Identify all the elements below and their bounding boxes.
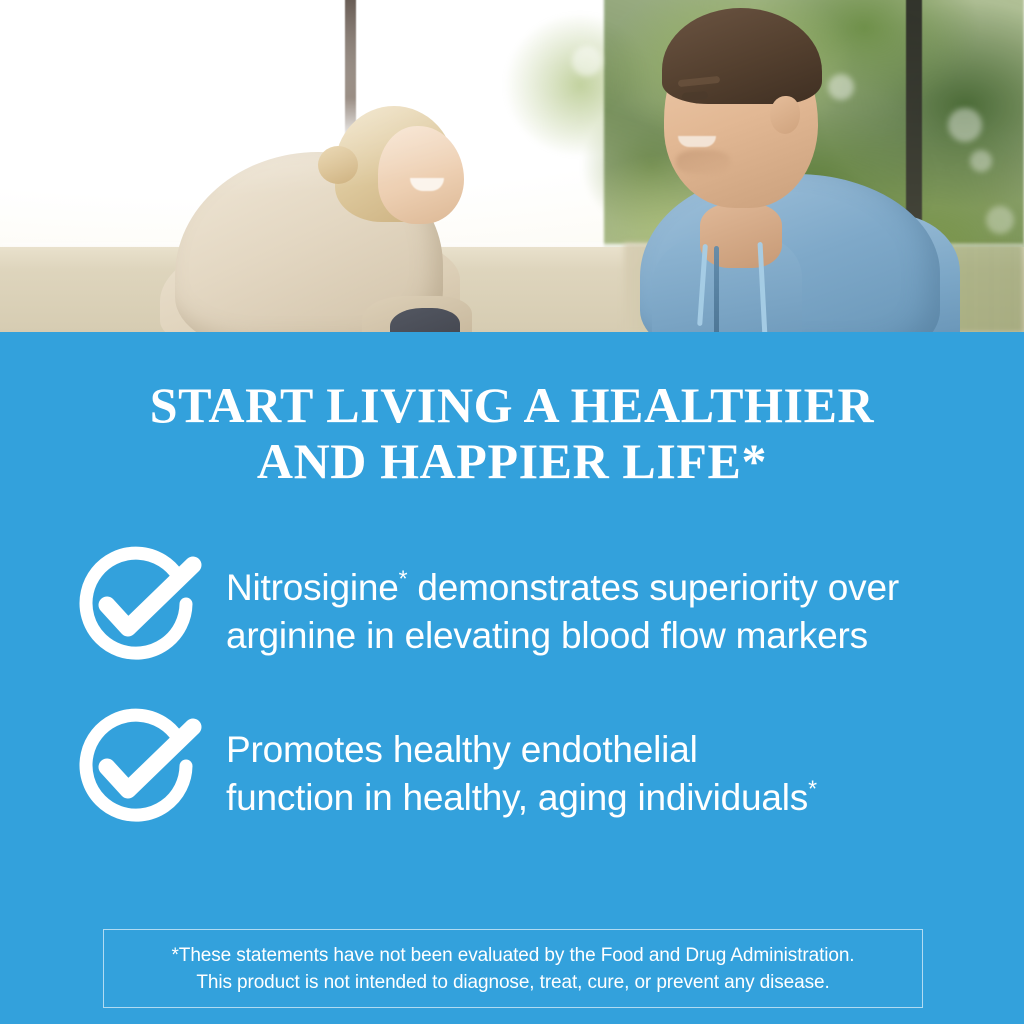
promo-poster: START LIVING A HEALTHIER AND HAPPIER LIF… [0, 0, 1024, 1024]
man-cheek-shadow [676, 150, 730, 174]
bullet-2-line-1: Promotes healthy endothelial [226, 726, 1024, 774]
bullet-1-line-1: Nitrosigine* demonstrates superiority ov… [226, 564, 1024, 612]
man-hoodie-zipper [714, 246, 719, 333]
list-item-label: Nitrosigine* demonstrates superiority ov… [226, 550, 1024, 660]
list-item: Promotes healthy endothelial function in… [0, 712, 1024, 828]
bokeh-light [986, 206, 1014, 234]
check-circle-icon [74, 704, 198, 828]
list-item: Nitrosigine* demonstrates superiority ov… [0, 550, 1024, 666]
bokeh-light [572, 46, 602, 76]
bullet-2-line-2-text: function in healthy, aging individuals [226, 777, 808, 818]
bokeh-light [828, 74, 854, 100]
hero-photo [0, 0, 1024, 333]
man-ear [770, 96, 800, 134]
check-circle-icon [74, 542, 198, 666]
man-neck [700, 204, 782, 268]
disclaimer-box: *These statements have not been evaluate… [103, 929, 923, 1008]
bullet-2-line-2: function in healthy, aging individuals* [226, 774, 1024, 822]
man-smile [678, 136, 716, 147]
bullet-1-line-1-rest: demonstrates superiority over [407, 567, 899, 608]
bullet-2-asterisk: * [808, 776, 817, 802]
list-item-label: Promotes healthy endothelial function in… [226, 712, 1024, 822]
bullet-1-line-2: arginine in elevating blood flow markers [226, 612, 1024, 660]
bokeh-light [948, 108, 982, 142]
headline-line-2: AND HAPPIER LIFE* [0, 433, 1024, 489]
bokeh-light [970, 150, 992, 172]
disclaimer-text: *These statements have not been evaluate… [172, 942, 855, 996]
blue-content-panel: START LIVING A HEALTHIER AND HAPPIER LIF… [0, 332, 1024, 1024]
woman-hair-bun [318, 146, 358, 184]
headline-line-1: START LIVING A HEALTHIER [0, 377, 1024, 433]
bullet-1-brand: Nitrosigine [226, 567, 399, 608]
benefits-list: Nitrosigine* demonstrates superiority ov… [0, 550, 1024, 828]
woman-lap-object [390, 308, 460, 333]
disclaimer-line-2: This product is not intended to diagnose… [172, 969, 855, 996]
page-title: START LIVING A HEALTHIER AND HAPPIER LIF… [0, 377, 1024, 489]
disclaimer-line-1: *These statements have not been evaluate… [172, 942, 855, 969]
